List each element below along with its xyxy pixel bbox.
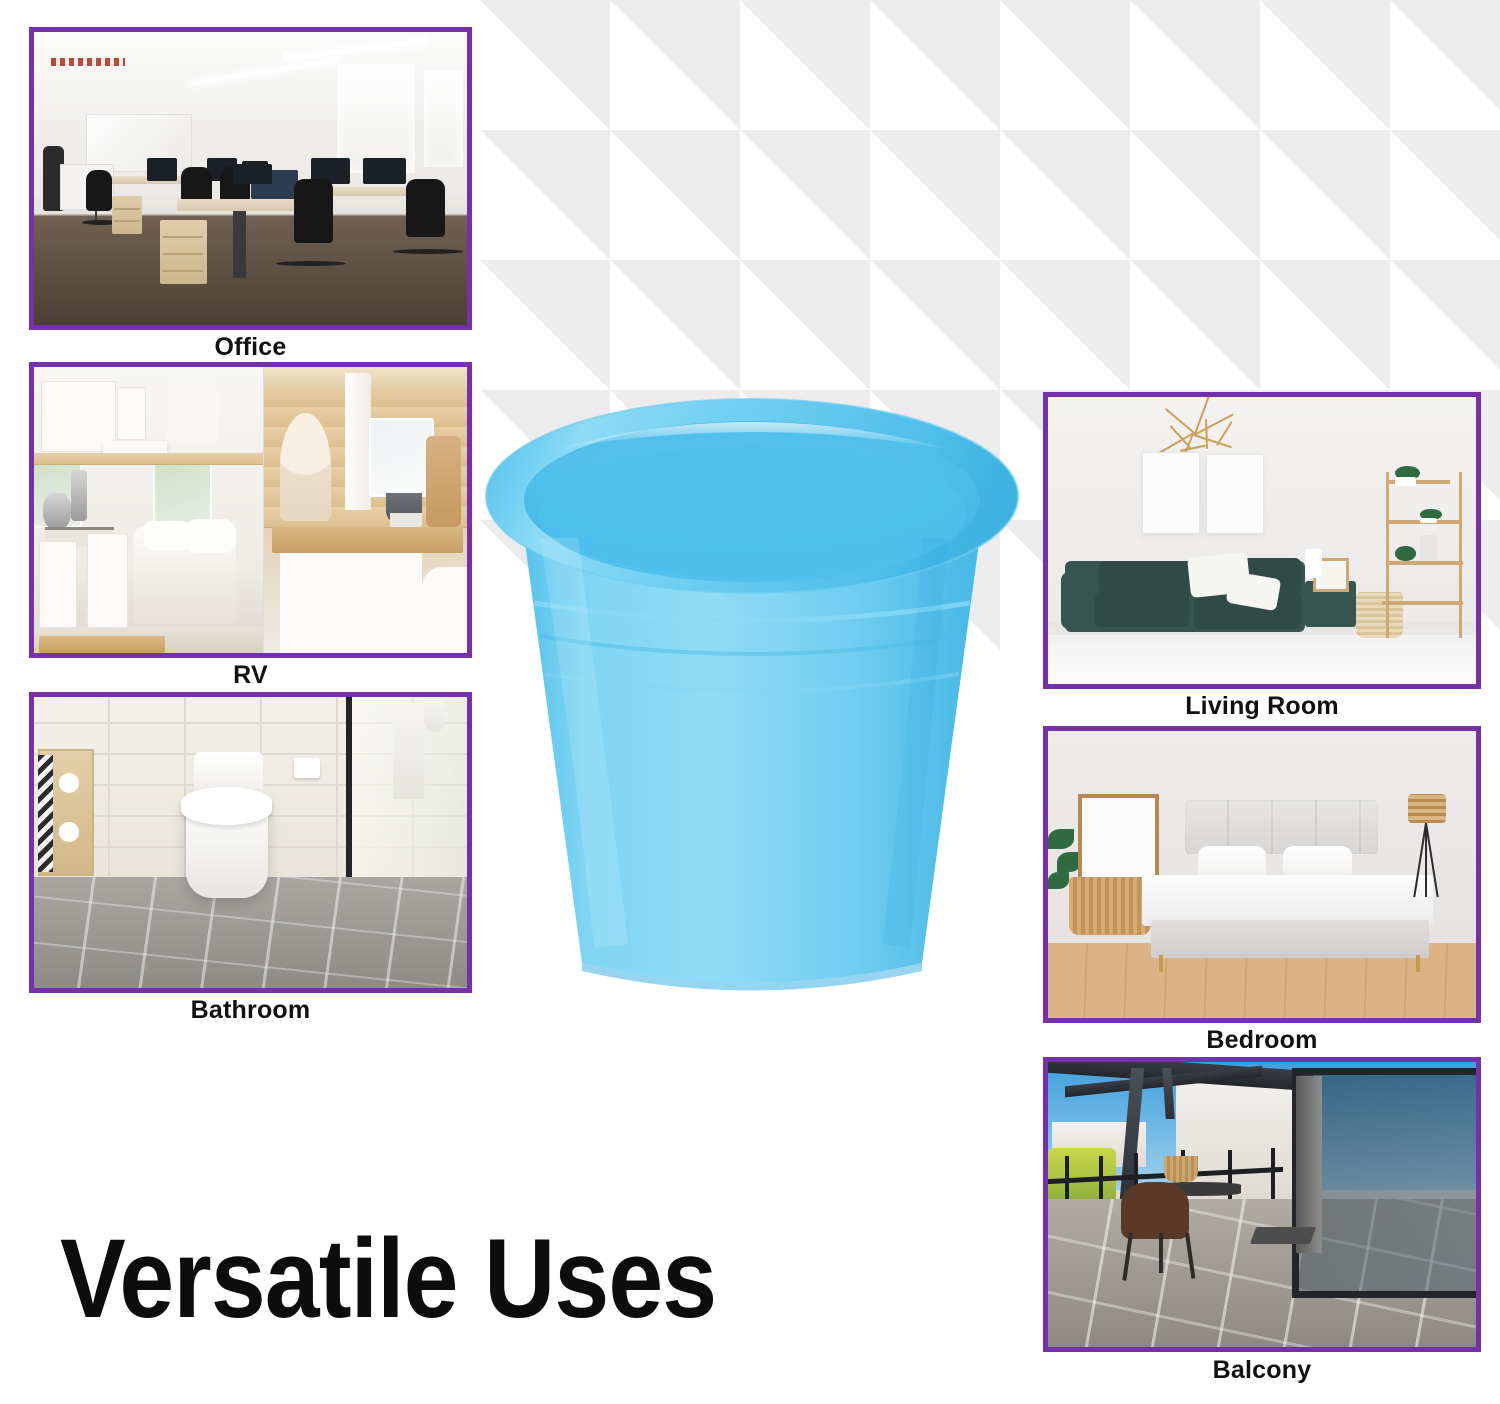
caption-balcony: Balcony: [1043, 1356, 1481, 1385]
caption-office: Office: [29, 333, 472, 362]
image-frame-bedroom: [1043, 726, 1481, 1023]
caption-bathroom: Bathroom: [29, 996, 472, 1025]
image-frame-rv: [29, 362, 472, 658]
caption-rv: RV: [29, 661, 472, 690]
caption-living-room: Living Room: [1043, 692, 1481, 721]
photo-balcony: [1048, 1062, 1476, 1347]
photo-living-room: [1048, 397, 1476, 684]
image-frame-living-room: [1043, 392, 1481, 689]
photo-bathroom: [34, 697, 467, 988]
page-title: Versatile Uses: [60, 1223, 716, 1335]
image-frame-bathroom: [29, 692, 472, 993]
image-frame-balcony: [1043, 1057, 1481, 1352]
photo-office: [34, 32, 467, 325]
product-image-dustbin: [478, 388, 1026, 1016]
caption-bedroom: Bedroom: [1043, 1026, 1481, 1055]
image-frame-office: [29, 27, 472, 330]
photo-rv: [34, 367, 467, 653]
photo-bedroom: [1048, 731, 1476, 1018]
